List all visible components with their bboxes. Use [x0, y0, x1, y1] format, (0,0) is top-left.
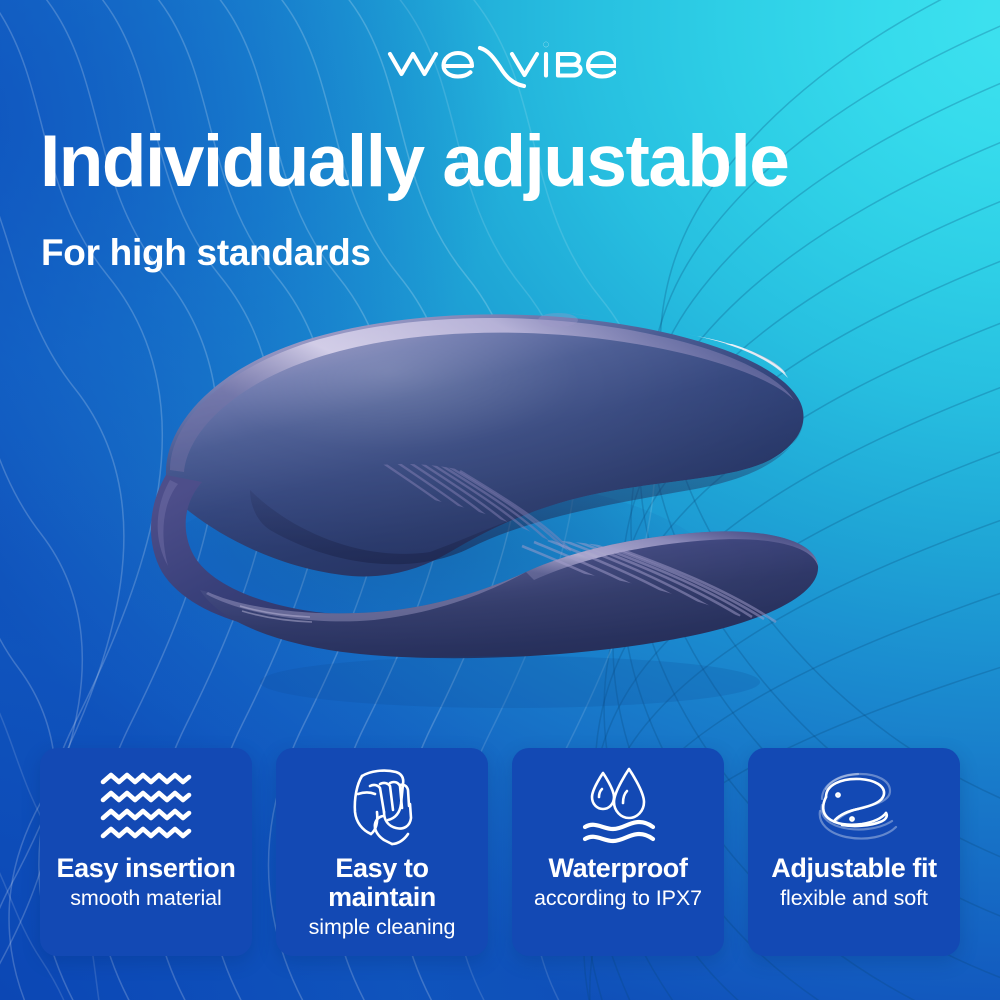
marketing-banner: Individually adjustable For high standar… [0, 0, 1000, 1000]
wavy-lines-icon [97, 768, 195, 844]
feature-card-subtitle: simple cleaning [309, 915, 456, 940]
feature-card-subtitle: smooth material [70, 886, 221, 911]
flexible-product-icon [808, 768, 900, 844]
feature-card-title: Adjustable fit [771, 854, 936, 883]
feature-card-list: Easy insertion smooth material [40, 748, 960, 956]
feature-card-title: Waterproof [549, 854, 688, 883]
product-image [130, 290, 890, 710]
feature-card-subtitle: according to IPX7 [534, 886, 702, 911]
page-subtitle: For high standards [41, 234, 371, 271]
page-title: Individually adjustable [40, 125, 990, 198]
water-drops-icon [575, 768, 661, 844]
feature-card-easy-insertion[interactable]: Easy insertion smooth material [40, 748, 252, 956]
feature-card-title: Easy to maintain [284, 854, 480, 912]
feature-card-subtitle: flexible and soft [780, 886, 928, 911]
hand-with-cloth-icon [340, 768, 424, 844]
feature-card-easy-to-maintain[interactable]: Easy to maintain simple cleaning [276, 748, 488, 956]
feature-card-waterproof[interactable]: Waterproof according to IPX7 [512, 748, 724, 956]
feature-card-adjustable-fit[interactable]: Adjustable fit flexible and soft [748, 748, 960, 956]
we-vibe-logo [0, 34, 1000, 90]
feature-card-title: Easy insertion [57, 854, 236, 883]
